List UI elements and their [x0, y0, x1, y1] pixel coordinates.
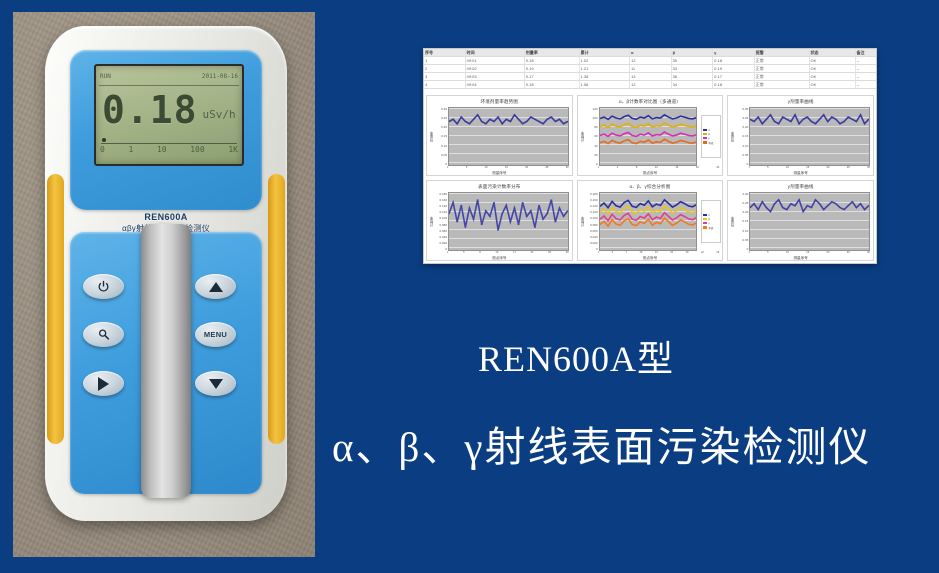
- chart-data-point: [839, 207, 841, 208]
- chart-data-point: [607, 220, 609, 221]
- chart-y-ticks: 0.300.250.200.150.100.050: [735, 192, 749, 251]
- chart-data-point: [671, 212, 673, 213]
- chart-data-point: [651, 225, 653, 226]
- chart-data-point: [856, 207, 858, 208]
- chart-data-point: [667, 203, 669, 204]
- chart-legend-label: γ: [708, 222, 709, 225]
- chart-data-point: [766, 207, 768, 208]
- spreadsheet-cell: 2: [424, 65, 466, 72]
- chart-legend-item: γ: [703, 137, 719, 140]
- chart-data-point: [675, 135, 677, 136]
- chart-data-point: [635, 213, 637, 214]
- chart-data-point: [513, 114, 515, 115]
- chart-data-point: [667, 221, 669, 222]
- chart-y-axis-label: 计数率: [578, 192, 585, 251]
- chart-data-point: [542, 123, 544, 124]
- chart-x-axis-label: 测量序号: [728, 171, 873, 176]
- chart-legend-label: 本底: [708, 141, 713, 145]
- chart-data-point: [631, 212, 633, 213]
- charts-grid: 环境剂量率趋势图剂量率0.300.250.200.150.100.0501510…: [424, 93, 876, 263]
- chart-y-axis-label: 计数率: [427, 192, 434, 251]
- chart-body: 剂量率0.300.250.200.150.100.050: [728, 192, 873, 251]
- chart-x-axis-label: 测量序号: [728, 256, 873, 261]
- chart-data-point: [534, 119, 536, 120]
- chart-plot-area: [749, 107, 870, 166]
- chart-y-tick: 0.040: [590, 235, 598, 239]
- chart-data-point: [607, 213, 609, 214]
- chart-data-point: [762, 123, 764, 124]
- chart-data-point: [671, 219, 673, 220]
- triangle-up-icon: [209, 282, 223, 292]
- chart-data-point: [675, 126, 677, 127]
- lcd-scale: 01101001K: [100, 145, 238, 159]
- chart-data-point: [671, 143, 673, 144]
- chart-y-axis-label: 剂量率: [728, 192, 735, 251]
- chart-data-point: [774, 121, 776, 122]
- play-button[interactable]: [83, 371, 124, 396]
- chart-legend-label: α: [708, 129, 709, 132]
- spreadsheet-cell: α: [630, 49, 672, 56]
- chart-y-tick: 60: [594, 134, 597, 138]
- chart-data-point: [623, 220, 625, 221]
- chart-data-point: [782, 207, 784, 208]
- chart-data-point: [501, 123, 503, 124]
- chart-data-point: [647, 123, 649, 124]
- chart-data-point: [643, 135, 645, 136]
- chart-data-point: [643, 223, 645, 224]
- chart-data-point: [671, 225, 673, 226]
- chart-data-point: [647, 206, 649, 207]
- spreadsheet-cell: 09:01: [466, 57, 525, 64]
- chart-data-point: [778, 123, 780, 124]
- chart-data-point: [456, 123, 458, 124]
- lcd-scale-tick: 10: [157, 145, 167, 159]
- chart-data-point: [607, 143, 609, 144]
- chart-data-point: [635, 136, 637, 137]
- down-button[interactable]: [195, 371, 236, 396]
- chart-y-tick: 0.120: [590, 210, 598, 214]
- chart-data-point: [607, 119, 609, 120]
- chart-data-point: [603, 203, 605, 204]
- chart-data-point: [635, 225, 637, 226]
- chart-data-point: [790, 121, 792, 122]
- title-description: α、β、γ射线表面污染检测仪: [332, 413, 932, 473]
- spreadsheet-row: 409:040.181.5612340.18正常OK--A04P40.170.1…: [424, 81, 876, 89]
- spreadsheet-cell: 12: [630, 81, 672, 88]
- chart-y-axis-label: 剂量率: [728, 107, 735, 166]
- chart-legend-label: 本底: [708, 226, 713, 230]
- chart-data-point: [683, 134, 685, 135]
- chart-legend-label: γ: [708, 137, 709, 140]
- chart-data-point: [623, 202, 625, 203]
- chart-series-svg: [600, 108, 697, 165]
- chart-data-point: [667, 125, 669, 126]
- chart-y-tick: 0.100: [439, 216, 447, 220]
- chart-data-point: [655, 222, 657, 223]
- chart-data-point: [517, 119, 519, 120]
- chart-data-point: [615, 211, 617, 212]
- chart-data-point: [807, 205, 809, 206]
- chart-data-point: [623, 133, 625, 134]
- chart-data-point: [460, 117, 462, 118]
- spreadsheet-cell: 累计: [580, 49, 630, 56]
- spreadsheet-cell: --: [856, 65, 876, 72]
- menu-button-label: MENU: [204, 330, 227, 339]
- device-grip-left: [47, 174, 64, 444]
- chart-data-point: [562, 123, 564, 124]
- chart-panel: γ剂量率曲线剂量率0.300.250.200.150.100.050151015…: [727, 95, 874, 176]
- chart-data-point: [501, 213, 503, 214]
- spreadsheet-cell: --: [856, 57, 876, 64]
- chart-data-point: [778, 199, 780, 200]
- chart-data-point: [687, 224, 689, 225]
- chart-data-point: [631, 224, 633, 225]
- chart-data-point: [615, 126, 617, 127]
- chart-data-point: [847, 205, 849, 206]
- chart-plot-area: [448, 107, 569, 166]
- title-model: REN600A型: [478, 330, 898, 382]
- chart-y-tick: 0.080: [439, 223, 447, 227]
- up-button[interactable]: [195, 274, 236, 299]
- chart-data-point: [651, 135, 653, 136]
- chart-data-point: [546, 213, 548, 214]
- spreadsheet-cell: OK: [810, 73, 856, 80]
- chart-data-point: [615, 135, 617, 136]
- chart-data-point: [485, 210, 487, 211]
- chart-data-point: [505, 205, 507, 206]
- spreadsheet-cell: 0.18: [525, 81, 580, 88]
- spreadsheet-cell: 状态: [810, 49, 856, 56]
- chart-data-point: [472, 119, 474, 120]
- chart-data-point: [464, 121, 466, 122]
- chart-data-point: [770, 211, 772, 212]
- chart-legend-item: γ: [703, 222, 719, 225]
- chart-y-tick: 0.25: [742, 201, 748, 205]
- spreadsheet-row: 309:030.171.3813360.17正常OK--A03P30.160.1…: [424, 73, 876, 81]
- chart-legend-item: 本底: [703, 226, 719, 230]
- chart-data-point: [852, 119, 854, 120]
- chart-data-point: [675, 142, 677, 143]
- chart-data-point: [631, 126, 633, 127]
- chart-data-point: [611, 133, 613, 134]
- chart-data-point: [635, 220, 637, 221]
- chart-data-point: [639, 134, 641, 135]
- chart-data-point: [691, 135, 693, 136]
- chart-data-point: [643, 218, 645, 219]
- chart-data-point: [635, 143, 637, 144]
- chart-data-point: [619, 219, 621, 220]
- chart-data-point: [631, 142, 633, 143]
- chart-y-tick: 0.160: [590, 198, 598, 202]
- spreadsheet-cell: 序号: [424, 49, 466, 56]
- chart-data-point: [659, 223, 661, 224]
- chart-data-point: [811, 121, 813, 122]
- chart-y-tick: 0.140: [439, 204, 447, 208]
- spreadsheet-row: 109:010.181.0212350.18正常OK--A01P10.170.1…: [424, 57, 876, 65]
- chart-data-point: [538, 205, 540, 206]
- chart-y-tick: 0.20: [441, 125, 447, 129]
- chart-data-point: [798, 199, 800, 200]
- chart-data-point: [687, 142, 689, 143]
- chart-series-line: [750, 200, 869, 212]
- chart-data-point: [627, 213, 629, 214]
- chart-series-svg: [750, 193, 869, 250]
- chart-data-point: [493, 202, 495, 203]
- chart-data-point: [663, 199, 665, 200]
- chart-data-point: [819, 119, 821, 120]
- chart-legend-item: 本底: [703, 141, 719, 145]
- menu-button[interactable]: MENU: [195, 322, 236, 347]
- spreadsheet-cell: 1: [424, 57, 466, 64]
- chart-data-point: [603, 117, 605, 118]
- chart-legend-swatch: [703, 137, 707, 140]
- chart-data-point: [497, 117, 499, 118]
- search-button[interactable]: [83, 322, 124, 347]
- chart-data-point: [477, 199, 479, 200]
- chart-data-point: [823, 114, 825, 115]
- lcd-reading: 0.18 uSv/h: [102, 88, 238, 132]
- chart-data-point: [860, 114, 862, 115]
- spreadsheet-cell: 13: [630, 73, 672, 80]
- spreadsheet-row: 209:020.191.2111330.19正常OK--A02P20.180.2…: [424, 65, 876, 73]
- chart-legend-item: α: [703, 129, 719, 132]
- spreadsheet-cell: 12: [630, 57, 672, 64]
- chart-data-point: [675, 217, 677, 218]
- spreadsheet-cell: 正常: [755, 57, 810, 64]
- chart-data-point: [619, 118, 621, 119]
- chart-y-tick: 0.180: [439, 192, 447, 196]
- chart-data-point: [651, 206, 653, 207]
- chart-data-point: [464, 227, 466, 228]
- chart-data-point: [489, 216, 491, 217]
- chart-data-point: [667, 117, 669, 118]
- chart-data-point: [691, 212, 693, 213]
- chart-data-point: [675, 204, 677, 205]
- spreadsheet-cell: OK: [810, 57, 856, 64]
- chart-data-point: [468, 123, 470, 124]
- chart-data-point: [607, 207, 609, 208]
- chart-data-point: [619, 225, 621, 226]
- chart-legend-swatch: [703, 214, 707, 217]
- power-button[interactable]: [83, 274, 124, 299]
- chart-y-tick: 100: [593, 116, 598, 120]
- chart-legend-swatch: [703, 218, 707, 221]
- chart-data-point: [607, 127, 609, 128]
- chart-data-point: [493, 121, 495, 122]
- chart-data-point: [815, 199, 817, 200]
- chart-data-point: [659, 142, 661, 143]
- chart-data-point: [647, 213, 649, 214]
- chart-y-tick: 80: [594, 125, 597, 129]
- chart-y-tick: 0.120: [439, 210, 447, 214]
- lcd-scale-tick: 100: [190, 145, 204, 159]
- chart-y-tick: 0.100: [590, 216, 598, 220]
- chart-data-point: [615, 224, 617, 225]
- chart-data-point: [513, 208, 515, 209]
- chart-y-tick: 0.05: [441, 153, 447, 157]
- chart-data-point: [839, 123, 841, 124]
- chart-y-tick: 0.25: [742, 116, 748, 120]
- chart-y-tick: 0.20: [742, 210, 748, 214]
- chart-data-point: [509, 221, 511, 222]
- chart-x-axis-label: 测点序号: [427, 256, 572, 261]
- spreadsheet-cell: --: [856, 81, 876, 88]
- lcd-bargraph: [101, 138, 237, 144]
- chart-data-point: [639, 203, 641, 204]
- chart-data-point: [619, 212, 621, 213]
- chart-data-point: [481, 121, 483, 122]
- chart-data-point: [819, 203, 821, 204]
- chart-data-point: [687, 218, 689, 219]
- chart-data-point: [691, 118, 693, 119]
- device-grip-right: [268, 174, 285, 444]
- chart-y-tick: 0.15: [441, 134, 447, 138]
- chart-data-point: [623, 208, 625, 209]
- chart-data-point: [753, 203, 755, 204]
- chart-data-point: [489, 119, 491, 120]
- chart-data-point: [667, 209, 669, 210]
- chart-data-point: [623, 140, 625, 141]
- chart-data-point: [627, 218, 629, 219]
- chart-data-point: [659, 205, 661, 206]
- chart-data-point: [485, 123, 487, 124]
- chart-data-point: [663, 114, 665, 115]
- chart-data-point: [643, 117, 645, 118]
- chart-data-point: [651, 143, 653, 144]
- chart-data-point: [667, 141, 669, 142]
- lcd-scale-tick: 0: [100, 145, 105, 159]
- chart-data-point: [505, 119, 507, 120]
- chart-data-point: [683, 221, 685, 222]
- chart-data-point: [753, 121, 755, 122]
- chart-data-point: [619, 207, 621, 208]
- chart-legend-label: α: [708, 214, 709, 217]
- slide-canvas: RUN 2011-08-16 0.18 uSv/h 01101001K REN6…: [0, 0, 939, 573]
- chart-y-ticks: 0.300.250.200.150.100.050: [735, 107, 749, 166]
- chart-data-point: [627, 115, 629, 116]
- chart-data-point: [675, 210, 677, 211]
- spreadsheet-row: 序号时间剂量率累计αβγ报警状态备注编号测点值1值2: [424, 49, 876, 57]
- chart-data-point: [611, 214, 613, 215]
- chart-legend-swatch: [703, 222, 707, 225]
- chart-data-point: [691, 219, 693, 220]
- chart-data-point: [691, 143, 693, 144]
- lcd-status-left: RUN: [100, 73, 111, 80]
- chart-data-point: [530, 117, 532, 118]
- spreadsheet-cell: 4: [424, 81, 466, 88]
- chart-data-point: [647, 200, 649, 201]
- chart-legend-label: β: [708, 218, 709, 221]
- chart-y-tick: 0.180: [590, 192, 598, 196]
- magnifier-icon: [97, 328, 111, 341]
- chart-data-point: [757, 209, 759, 210]
- chart-data-point: [643, 142, 645, 143]
- chart-data-point: [679, 116, 681, 117]
- chart-data-point: [619, 143, 621, 144]
- chart-data-point: [481, 224, 483, 225]
- device-face-top: RUN 2011-08-16 0.18 uSv/h 01101001K: [70, 50, 262, 210]
- chart-x-axis-label: 测点序号: [578, 256, 723, 261]
- chart-data-point: [774, 203, 776, 204]
- chart-data-point: [639, 216, 641, 217]
- spreadsheet-cell: 11: [630, 65, 672, 72]
- chart-data-point: [631, 135, 633, 136]
- chart-data-point: [639, 117, 641, 118]
- chart-legend-item: α: [703, 214, 719, 217]
- chart-data-point: [683, 117, 685, 118]
- chart-data-point: [558, 208, 560, 209]
- chart-data-point: [667, 216, 669, 217]
- chart-data-point: [687, 211, 689, 212]
- chart-series-svg: [449, 108, 568, 165]
- chart-data-point: [659, 135, 661, 136]
- chart-data-point: [522, 202, 524, 203]
- spreadsheet-cell: 36: [672, 73, 714, 80]
- spreadsheet-cell: 0.18: [713, 57, 755, 64]
- chart-data-point: [770, 114, 772, 115]
- chart-data-point: [815, 123, 817, 124]
- chart-plot-area: [448, 192, 569, 251]
- chart-panel: 环境剂量率趋势图剂量率0.300.250.200.150.100.0501510…: [426, 95, 573, 176]
- chart-data-point: [472, 219, 474, 220]
- chart-data-point: [794, 205, 796, 206]
- software-screenshot-panel: 序号时间剂量率累计αβγ报警状态备注编号测点值1值2109:010.181.02…: [423, 48, 877, 264]
- chart-data-point: [691, 225, 693, 226]
- chart-y-tick: 0.040: [439, 235, 447, 239]
- chart-data-point: [679, 207, 681, 208]
- chart-data-point: [651, 212, 653, 213]
- chart-data-point: [554, 121, 556, 122]
- chart-data-point: [798, 123, 800, 124]
- chart-data-point: [675, 223, 677, 224]
- chart-data-point: [691, 206, 693, 207]
- chart-legend-label: β: [708, 133, 709, 136]
- chart-data-point: [766, 119, 768, 120]
- spreadsheet-cell: 1.21: [580, 65, 630, 72]
- chart-data-point: [611, 116, 613, 117]
- chart-data-point: [651, 126, 653, 127]
- chart-legend-item: β: [703, 218, 719, 221]
- spreadsheet-cell: 正常: [755, 81, 810, 88]
- chart-data-point: [864, 209, 866, 210]
- chart-data-point: [823, 209, 825, 210]
- chart-y-tick: 0.020: [590, 241, 598, 245]
- spreadsheet-cell: β: [672, 49, 714, 56]
- chart-y-tick: 0.05: [742, 238, 748, 242]
- chart-title: α、β、γ综合分析图: [578, 184, 723, 190]
- chart-data-point: [671, 118, 673, 119]
- lcd-scale-tick: 1: [128, 145, 133, 159]
- chart-y-tick: 0.30: [441, 107, 447, 111]
- chart-data-point: [671, 207, 673, 208]
- spreadsheet-cell: 正常: [755, 73, 810, 80]
- chart-data-point: [562, 216, 564, 217]
- chart-data-point: [659, 117, 661, 118]
- chart-data-point: [691, 126, 693, 127]
- chart-title: 表面污染计数率分布: [427, 184, 572, 190]
- chart-data-point: [831, 117, 833, 118]
- chart-data-point: [671, 135, 673, 136]
- chart-data-point: [631, 118, 633, 119]
- spreadsheet-cell: 09:03: [466, 73, 525, 80]
- chart-data-point: [635, 119, 637, 120]
- chart-y-tick: 0.25: [441, 116, 447, 120]
- chart-data-point: [607, 226, 609, 227]
- chart-data-point: [864, 123, 866, 124]
- chart-data-point: [651, 219, 653, 220]
- chart-y-tick: 0.15: [742, 134, 748, 138]
- chart-data-point: [687, 135, 689, 136]
